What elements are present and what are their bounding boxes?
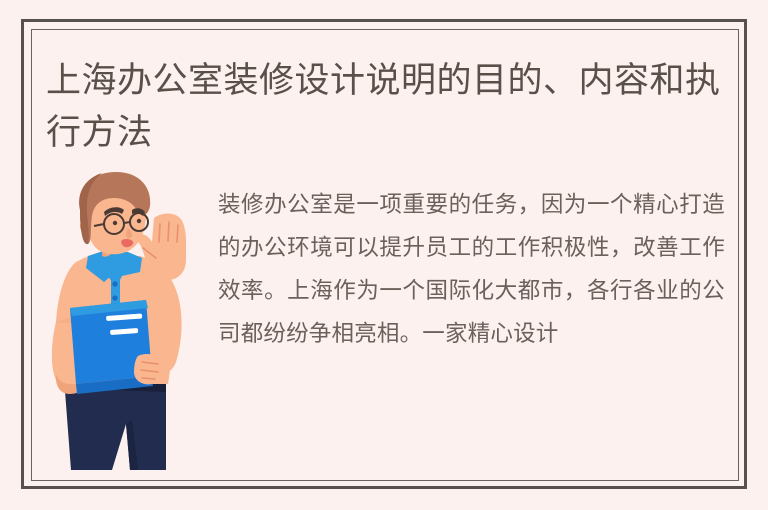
article-body-text: 装修办公室是一项重要的任务，因为一个精心打造的办公环境可以提升员工的工作积极性，… (218, 183, 725, 355)
article-card: 上海办公室装修设计说明的目的、内容和执行方法 装修办公室是一项重要的任务，因为一… (0, 0, 768, 510)
page-title: 上海办公室装修设计说明的目的、内容和执行方法 (46, 55, 722, 159)
holding-hand-shape (134, 354, 164, 384)
waving-businessman-illustration (42, 172, 222, 480)
